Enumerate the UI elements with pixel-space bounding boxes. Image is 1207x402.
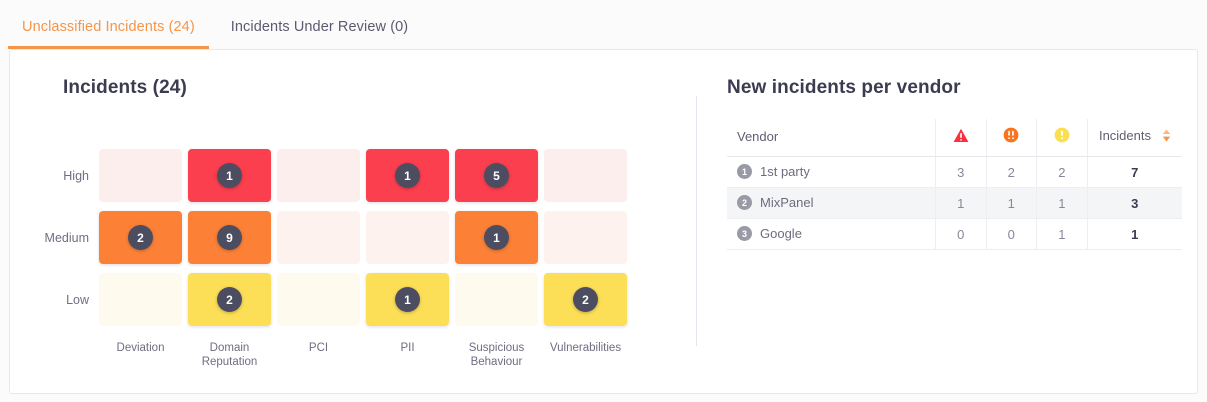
vendor-name-cell: 3Google [727,219,935,250]
column-header-medium-severity[interactable] [986,119,1037,157]
heatmap-cell-medium-suspicious-behaviour[interactable]: 1 [455,211,538,264]
heatmap-cell-medium-domain-reputation[interactable]: 9 [188,211,271,264]
vendor-table-head: Vendor [727,119,1182,157]
heatmap-col-label-suspicious-behaviour: Suspicious Behaviour [455,335,538,369]
rank-badge: 3 [737,226,752,241]
low-severity-count: 2 [1037,157,1088,188]
heatmap-cell-value: 1 [395,163,420,188]
heatmap-cell-value: 1 [217,163,242,188]
heatmap-cell-low-vulnerabilities[interactable]: 2 [544,273,627,326]
heatmap-column-labels: Deviation Domain Reputation PCI PII Susp… [37,335,677,369]
heatmap-cell-medium-vulnerabilities[interactable] [544,211,627,264]
sort-arrows-icon[interactable] [1162,129,1171,145]
heatmap-row-label-high: High [37,169,99,183]
vendor-table: Vendor [727,119,1182,250]
vendor-name: MixPanel [760,195,813,210]
rank-badge: 2 [737,195,752,210]
heatmap-row-label-low: Low [37,293,99,307]
tab-bar: Unclassified Incidents (24) Incidents Un… [0,0,1207,49]
vendor-table-title: New incidents per vendor [727,77,961,99]
heatmap-row-low: Low 2 1 2 [37,269,677,330]
heatmap-row-high-cells: 1 1 5 [99,149,627,202]
heatmap-col-label-pii: PII [366,335,449,369]
vendor-name: Google [760,226,802,241]
column-header-low-severity[interactable] [1037,119,1088,157]
column-header-high-severity[interactable] [935,119,986,157]
vendor-name-cell: 2MixPanel [727,188,935,219]
high-severity-count: 3 [935,157,986,188]
vendor-table-panel: New incidents per vendor Vendor [697,50,1198,393]
high-severity-triangle-icon [953,128,969,146]
column-header-incidents[interactable]: Incidents [1087,119,1182,157]
vendor-table-body: 11st party 3 2 2 7 2MixPanel 1 1 1 [727,157,1182,250]
column-header-vendor[interactable]: Vendor [727,119,935,157]
table-row[interactable]: 2MixPanel 1 1 1 3 [727,188,1182,219]
dashboard-card: Incidents (24) High 1 1 [9,49,1198,394]
heatmap-col-label-vulnerabilities: Vulnerabilities [544,335,627,369]
heatmap-cell-low-suspicious-behaviour[interactable] [455,273,538,326]
table-row[interactable]: 3Google 0 0 1 1 [727,219,1182,250]
heatmap-row-medium: Medium 2 9 1 [37,207,677,268]
column-header-vendor-label: Vendor [737,129,778,144]
heatmap-cell-high-suspicious-behaviour[interactable]: 5 [455,149,538,202]
vendor-name-cell: 11st party [727,157,935,188]
heatmap-col-label-pci: PCI [277,335,360,369]
medium-severity-count: 0 [986,219,1037,250]
heatmap-title: Incidents (24) [63,77,187,99]
column-header-incidents-label: Incidents [1099,128,1151,143]
table-row[interactable]: 11st party 3 2 2 7 [727,157,1182,188]
medium-severity-count: 1 [986,188,1037,219]
tab-incidents-under-review-label: Incidents Under Review (0) [231,19,408,35]
heatmap-grid: High 1 1 5 [37,145,677,330]
low-severity-count: 1 [1037,219,1088,250]
heatmap-row-medium-cells: 2 9 1 [99,211,627,264]
heatmap-cell-high-domain-reputation[interactable]: 1 [188,149,271,202]
low-severity-count: 1 [1037,188,1088,219]
heatmap-cell-value: 2 [128,225,153,250]
heatmap-cell-value: 5 [484,163,509,188]
heatmap-row-high: High 1 1 5 [37,145,677,206]
incidents-heatmap-panel: Incidents (24) High 1 1 [10,50,696,393]
heatmap-row-label-medium: Medium [37,231,99,245]
heatmap-cell-medium-pii[interactable] [366,211,449,264]
heatmap-cell-value: 1 [484,225,509,250]
high-severity-count: 0 [935,219,986,250]
incidents-total: 7 [1087,157,1182,188]
low-severity-circle-icon [1054,127,1070,146]
rank-badge: 1 [737,164,752,179]
heatmap-col-label-domain-reputation: Domain Reputation [188,335,271,369]
heatmap-cell-value: 2 [573,287,598,312]
incidents-total: 3 [1087,188,1182,219]
heatmap-cell-low-pci[interactable] [277,273,360,326]
heatmap-cell-high-deviation[interactable] [99,149,182,202]
heatmap-cell-medium-pci[interactable] [277,211,360,264]
medium-severity-count: 2 [986,157,1037,188]
heatmap-cell-medium-deviation[interactable]: 2 [99,211,182,264]
heatmap-cell-value: 9 [217,225,242,250]
vendor-table-header-row: Vendor [727,119,1182,157]
medium-severity-circle-icon [1003,127,1019,146]
app-root: Unclassified Incidents (24) Incidents Un… [0,0,1207,402]
tab-incidents-under-review[interactable]: Incidents Under Review (0) [217,19,422,49]
heatmap-cell-low-pii[interactable]: 1 [366,273,449,326]
incidents-total: 1 [1087,219,1182,250]
heatmap-cell-value: 2 [217,287,242,312]
tab-unclassified-incidents[interactable]: Unclassified Incidents (24) [8,19,209,49]
heatmap-cell-high-vulnerabilities[interactable] [544,149,627,202]
heatmap-cell-low-domain-reputation[interactable]: 2 [188,273,271,326]
vendor-name: 1st party [760,164,810,179]
heatmap-col-label-deviation: Deviation [99,335,182,369]
heatmap-cell-value: 1 [395,287,420,312]
tab-unclassified-incidents-label: Unclassified Incidents (24) [22,19,195,35]
high-severity-count: 1 [935,188,986,219]
heatmap-cell-high-pci[interactable] [277,149,360,202]
heatmap-cell-low-deviation[interactable] [99,273,182,326]
heatmap-cell-high-pii[interactable]: 1 [366,149,449,202]
heatmap-row-low-cells: 2 1 2 [99,273,627,326]
